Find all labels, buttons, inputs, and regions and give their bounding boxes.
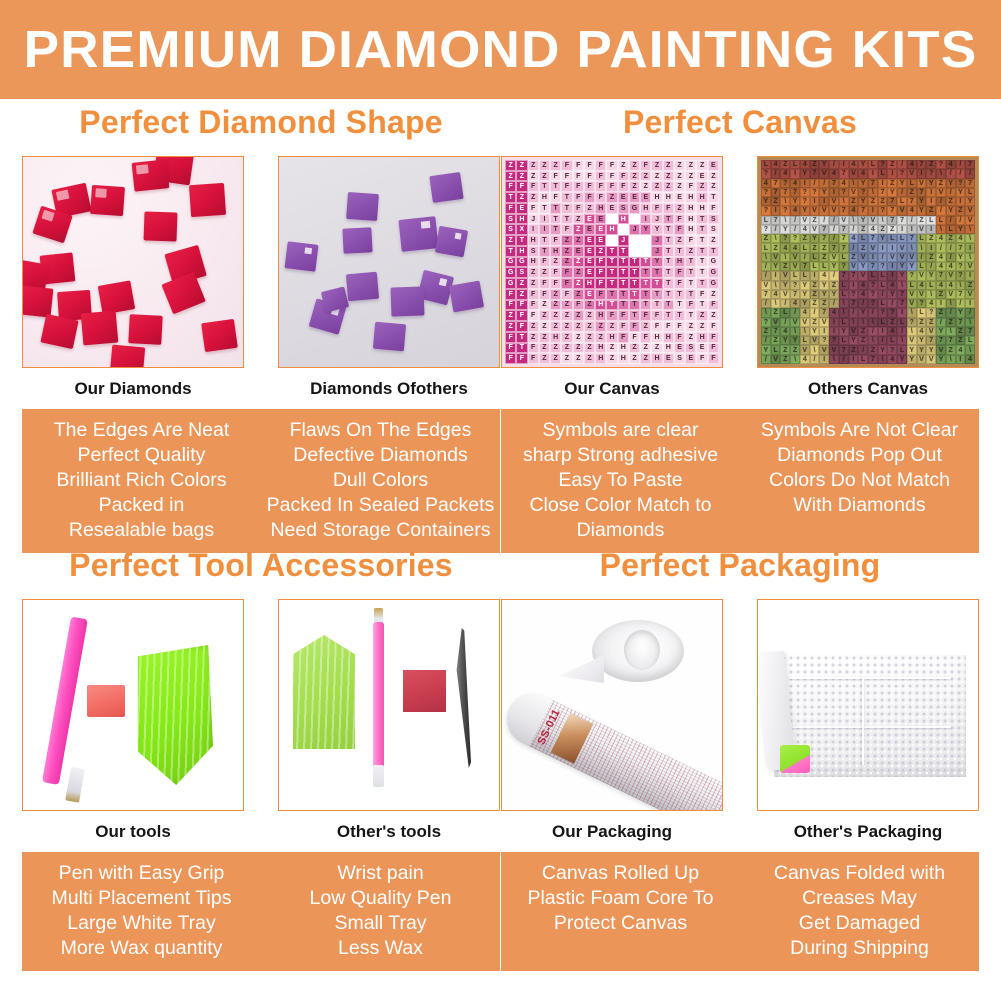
canvas-symbol-cell: F <box>539 289 550 300</box>
canvas-symbol-cell: T <box>696 267 707 278</box>
canvas-symbol-cell: G <box>505 267 516 278</box>
canvas-symbol-cell: Z <box>917 318 927 327</box>
canvas-symbol-cell: 7 <box>790 290 800 299</box>
canvas-symbol-cell: F <box>584 171 595 182</box>
canvas-symbol-cell: I <box>897 308 907 317</box>
red-square-diamonds-photo <box>23 157 243 367</box>
canvas-symbol-cell: T <box>629 278 640 289</box>
canvas-symbol-cell: / <box>858 299 868 308</box>
canvas-symbol-cell: / <box>965 169 975 178</box>
canvas-symbol-cell: / <box>790 216 800 225</box>
canvas-symbol-cell: E <box>606 203 617 214</box>
canvas-symbol-cell: Y <box>629 214 640 225</box>
canvas-symbol-cell: T <box>640 267 651 278</box>
canvas-symbol-cell: / <box>946 308 956 317</box>
canvas-symbol-cell: L <box>800 243 810 252</box>
canvas-symbol-cell: Z <box>887 160 897 169</box>
canvas-symbol-cell: I <box>829 318 839 327</box>
canvas-symbol-cell: H <box>674 257 685 268</box>
canvas-symbol-cell: L <box>839 336 849 345</box>
canvas-symbol-cell: ? <box>790 281 800 290</box>
canvas-symbol-cell: Z <box>868 345 878 354</box>
photo-frame-other-tools <box>278 599 500 811</box>
canvas-symbol-cell: H <box>640 203 651 214</box>
photo-cell-other-packaging: Other's Packaging <box>757 599 979 844</box>
canvas-symbol-cell: Z <box>573 267 584 278</box>
canvas-symbol-cell: Z <box>810 160 820 169</box>
canvas-symbol-cell: F <box>516 321 527 332</box>
canvas-symbol-cell: E <box>584 257 595 268</box>
canvas-symbol-cell: / <box>829 225 839 234</box>
canvas-symbol-cell: E <box>584 214 595 225</box>
canvas-symbol-cell: T <box>606 246 617 257</box>
canvas-symbol-cell: 4 <box>887 355 897 364</box>
canvas-symbol-cell: F <box>708 300 719 311</box>
canvas-symbol-cell: Z <box>595 246 606 257</box>
photo-cell-our-tools: Our tools <box>22 599 244 844</box>
canvas-symbol-cell: 7 <box>800 262 810 271</box>
canvas-symbol-cell: ? <box>790 234 800 243</box>
canvas-symbol-cell: F <box>640 332 651 343</box>
canvas-symbol-cell: J <box>640 235 651 246</box>
canvas-symbol-cell: L <box>790 160 800 169</box>
canvas-symbol-cell: V <box>858 271 868 280</box>
canvas-symbol-cell: E <box>595 214 606 225</box>
canvas-symbol-cell: / <box>936 206 946 215</box>
canvas-symbol-cell: E <box>640 192 651 203</box>
canvas-symbol-cell: ? <box>878 308 888 317</box>
canvas-symbol-cell: F <box>640 310 651 321</box>
canvas-symbol-cell: Z <box>573 343 584 354</box>
canvas-symbol-cell: \ <box>868 318 878 327</box>
canvas-symbol-cell: H <box>685 214 696 225</box>
canvas-symbol-cell: Y <box>790 336 800 345</box>
pen-tip-icon <box>65 767 85 803</box>
canvas-symbol-cell: 7 <box>819 225 829 234</box>
canvas-symbol-cell: 4 <box>790 243 800 252</box>
canvas-symbol-cell: 7 <box>839 206 849 215</box>
canvas-symbol-cell: \ <box>897 336 907 345</box>
canvas-symbol-cell: T <box>674 300 685 311</box>
canvas-symbol-cell: F <box>573 192 584 203</box>
canvas-symbol-cell: 7 <box>839 243 849 252</box>
canvas-symbol-cell: F <box>595 257 606 268</box>
blurb-other-tools: Wrist pain Low Quality Pen Small Tray Le… <box>261 852 500 971</box>
canvas-symbol-cell: F <box>595 289 606 300</box>
canvas-symbol-cell: T <box>561 192 572 203</box>
canvas-symbol-cell: E <box>685 353 696 364</box>
canvas-symbol-cell: F <box>674 214 685 225</box>
canvas-symbol-cell: Y <box>800 169 810 178</box>
canvas-symbol-cell: 4 <box>849 234 859 243</box>
canvas-symbol-cell: Z <box>584 332 595 343</box>
canvas-symbol-cell: V <box>917 355 927 364</box>
canvas-symbol-cell: V <box>897 243 907 252</box>
canvas-symbol-cell: ? <box>780 206 790 215</box>
canvas-symbol-cell: T <box>674 310 685 321</box>
canvas-symbol-cell: F <box>606 160 617 171</box>
blurb-line: Protect Canvas <box>505 911 736 936</box>
canvas-symbol-cell: Z <box>761 327 771 336</box>
canvas-symbol-cell: F <box>606 181 617 192</box>
blurb-line: Diamonds <box>505 518 736 543</box>
canvas-symbol-cell: Z <box>640 171 651 182</box>
canvas-symbol-cell: H <box>663 192 674 203</box>
canvas-symbol-cell: 7 <box>868 262 878 271</box>
canvas-symbol-cell: F <box>539 257 550 268</box>
canvas-symbol-cell: / <box>946 243 956 252</box>
canvas-symbol-cell: \ <box>926 290 936 299</box>
canvas-symbol-cell: V <box>800 318 810 327</box>
canvas-symbol-cell: T <box>685 310 696 321</box>
header-banner: PREMIUM DIAMOND PAINTING KITS <box>0 0 1001 99</box>
canvas-symbol-cell: / <box>897 188 907 197</box>
canvas-symbol-cell: / <box>771 225 781 234</box>
canvas-symbol-cell: I <box>926 197 936 206</box>
canvas-symbol-cell: 7 <box>839 225 849 234</box>
canvas-symbol-cell: \ <box>917 243 927 252</box>
canvas-symbol-cell: Z <box>946 234 956 243</box>
canvas-symbol-cell: I <box>629 246 640 257</box>
canvas-symbol-cell: F <box>674 278 685 289</box>
canvas-symbol-cell: F <box>516 300 527 311</box>
canvas-symbol-cell: Z <box>539 343 550 354</box>
canvas-symbol-cell: T <box>618 278 629 289</box>
canvas-symbol-cell: 4 <box>936 262 946 271</box>
canvas-symbol-cell: F <box>674 224 685 235</box>
canvas-symbol-cell: V <box>761 281 771 290</box>
canvas-symbol-cell: Y <box>907 262 917 271</box>
canvas-symbol-cell: T <box>505 192 516 203</box>
canvas-symbol-cell: Z <box>878 225 888 234</box>
canvas-symbol-cell: 4 <box>771 290 781 299</box>
canvas-symbol-cell: Z <box>674 203 685 214</box>
canvas-symbol-cell: ? <box>810 188 820 197</box>
canvas-symbol-cell: 7 <box>771 216 781 225</box>
canvas-symbol-cell: H <box>618 343 629 354</box>
photo-frame-our-diamonds <box>22 156 244 368</box>
canvas-symbol-cell: \ <box>771 299 781 308</box>
canvas-symbol-cell: 4 <box>829 169 839 178</box>
canvas-symbol-cell: F <box>595 278 606 289</box>
canvas-symbol-cell: Z <box>780 262 790 271</box>
canvas-symbol-cell: Z <box>771 308 781 317</box>
canvas-symbol-cell: \ <box>946 299 956 308</box>
canvas-symbol-cell: F <box>629 332 640 343</box>
muddy-symbol-canvas-photo: L4ZL4ZY/I4YL?Z/47Z?4/7?/4IY7V47V4ILI?VI?… <box>758 157 978 367</box>
section-title-diamond-shape: Perfect Diamond Shape <box>22 106 500 146</box>
blurb-line: Creases May <box>744 886 975 911</box>
section-tool-accessories: Perfect Tool Accessories Our tools <box>22 549 500 971</box>
canvas-symbol-cell: / <box>780 318 790 327</box>
canvas-symbol-cell: Z <box>946 197 956 206</box>
canvas-symbol-cell: F <box>573 300 584 311</box>
contents-peeking-out <box>780 745 810 773</box>
canvas-symbol-cell: L <box>965 336 975 345</box>
canvas-symbol-cell: L <box>878 299 888 308</box>
canvas-symbol-cell: E <box>595 224 606 235</box>
canvas-symbol-cell: / <box>810 308 820 317</box>
canvas-symbol-cell: Z <box>887 318 897 327</box>
canvas-symbol-cell: V <box>907 169 917 178</box>
canvas-symbol-cell: 4 <box>858 169 868 178</box>
canvas-symbol-cell: Y <box>790 197 800 206</box>
canvas-symbol-cell: T <box>561 203 572 214</box>
section-canvas: Perfect Canvas ZZZZZFFFFFZZFZZZZZEZZZZFF… <box>501 106 979 553</box>
canvas-symbol-cell: Z <box>685 332 696 343</box>
blurb-line: Plastic Foam Core To <box>505 886 736 911</box>
canvas-symbol-cell: Z <box>965 281 975 290</box>
canvas-symbol-cell: T <box>674 246 685 257</box>
photo-cell-our-canvas: ZZZZZFFFFFZZFZZZZZEZZZZFFFFFFFZZZZZZEZFF… <box>501 156 723 401</box>
canvas-symbol-cell: L <box>800 336 810 345</box>
canvas-symbol-cell: Z <box>708 310 719 321</box>
canvas-symbol-cell: V <box>780 290 790 299</box>
canvas-symbol-cell: 7 <box>965 160 975 169</box>
canvas-symbol-cell: I <box>800 179 810 188</box>
canvas-symbol-cell: Y <box>640 224 651 235</box>
canvas-symbol-cell: T <box>618 246 629 257</box>
blurb-line: Symbols Are Not Clear <box>744 418 975 443</box>
canvas-symbol-cell: Y <box>907 345 917 354</box>
canvas-symbol-cell: Z <box>878 197 888 206</box>
canvas-symbol-cell: Z <box>528 321 539 332</box>
canvas-symbol-cell: V <box>810 225 820 234</box>
blurb-other-packaging: Canvas Folded with Creases May Get Damag… <box>740 852 979 971</box>
canvas-symbol-cell: 4 <box>936 281 946 290</box>
canvas-symbol-cell: / <box>956 216 966 225</box>
section-packaging: Perfect Packaging SS-011 <box>501 549 979 971</box>
canvas-symbol-cell: L <box>780 308 790 317</box>
canvas-symbol-cell: T <box>651 278 662 289</box>
canvas-symbol-cell: Y <box>878 234 888 243</box>
canvas-symbol-cell: T <box>640 278 651 289</box>
canvas-symbol-cell: H <box>539 192 550 203</box>
canvas-symbol-cell: I <box>829 188 839 197</box>
canvas-symbol-cell: \ <box>878 355 888 364</box>
canvas-symbol-cell: F <box>516 310 527 321</box>
canvas-symbol-cell: V <box>839 216 849 225</box>
canvas-symbol-cell: / <box>819 216 829 225</box>
canvas-symbol-cell: I <box>887 169 897 178</box>
canvas-symbol-cell: L <box>761 160 771 169</box>
photo-frame-our-packaging: SS-011 <box>501 599 723 811</box>
canvas-symbol-cell: F <box>505 181 516 192</box>
canvas-symbol-cell: I <box>771 271 781 280</box>
canvas-symbol-cell: \ <box>965 225 975 234</box>
canvas-symbol-cell: Z <box>528 332 539 343</box>
canvas-symbol-cell: I <box>965 299 975 308</box>
canvas-symbol-cell: Z <box>584 353 595 364</box>
canvas-symbol-cell: H <box>528 235 539 246</box>
canvas-symbol-cell: I <box>936 299 946 308</box>
canvas-symbol-cell: Y <box>819 281 829 290</box>
canvas-symbol-cell: 7 <box>858 206 868 215</box>
canvas-symbol-cell: Y <box>819 160 829 169</box>
canvas-symbol-cell: ? <box>761 206 771 215</box>
canvas-symbol-cell: Z <box>651 171 662 182</box>
canvas-symbol-cell: \ <box>936 169 946 178</box>
canvas-symbol-cell: 4 <box>946 281 956 290</box>
canvas-symbol-cell: \ <box>839 299 849 308</box>
canvas-symbol-cell: ? <box>761 318 771 327</box>
photo-frame-other-diamonds <box>278 156 500 368</box>
canvas-symbol-cell: Y <box>956 225 966 234</box>
canvas-symbol-cell: L <box>936 216 946 225</box>
canvas-symbol-cell: G <box>708 278 719 289</box>
tray-grooves <box>133 645 213 785</box>
canvas-symbol-cell: 7 <box>907 234 917 243</box>
canvas-symbol-cell: \ <box>761 253 771 262</box>
canvas-symbol-cell: Z <box>561 353 572 364</box>
canvas-symbol-cell: F <box>651 203 662 214</box>
canvas-symbol-cell: Y <box>956 308 966 317</box>
canvas-symbol-cell: V <box>926 355 936 364</box>
canvas-symbol-cell: T <box>663 300 674 311</box>
canvas-symbol-cell: T <box>663 224 674 235</box>
canvas-symbol-cell: F <box>708 321 719 332</box>
canvas-symbol-cell: 7 <box>956 290 966 299</box>
canvas-symbol-cell: Z <box>573 235 584 246</box>
canvas-symbol-cell: S <box>505 224 516 235</box>
caption-our-packaging: Our Packaging <box>501 822 723 844</box>
canvas-symbol-cell: I <box>528 224 539 235</box>
canvas-symbol-cell: E <box>584 267 595 278</box>
canvas-symbol-cell: V <box>917 179 927 188</box>
canvas-symbol-cell: Z <box>539 353 550 364</box>
canvas-symbol-cell: \ <box>790 355 800 364</box>
canvas-symbol-cell: V <box>868 216 878 225</box>
canvas-symbol-cell: 4 <box>790 206 800 215</box>
canvas-symbol-cell: \ <box>849 179 859 188</box>
canvas-symbol-cell: L <box>868 160 878 169</box>
canvas-symbol-cell: 4 <box>800 160 810 169</box>
canvas-symbol-cell: / <box>761 299 771 308</box>
caption-our-tools: Our tools <box>22 822 244 844</box>
photo-frame-our-tools <box>22 599 244 811</box>
canvas-symbol-cell: 4 <box>926 299 936 308</box>
canvas-symbol-cell: Z <box>917 216 927 225</box>
canvas-symbol-cell: H <box>663 343 674 354</box>
canvas-symbol-cell: Z <box>708 235 719 246</box>
canvas-symbol-cell: H <box>516 214 527 225</box>
blurb-line: Diamonds Pop Out <box>744 443 975 468</box>
photo-cell-others-canvas: L4ZL4ZY/I4YL?Z/47Z?4/7?/4IY7V47V4ILI?VI?… <box>757 156 979 401</box>
canvas-symbol-cell: Z <box>573 321 584 332</box>
canvas-symbol-cell: ? <box>761 188 771 197</box>
canvas-symbol-cell: \ <box>907 308 917 317</box>
wax-square-icon <box>87 685 125 717</box>
canvas-symbol-cell: Z <box>810 290 820 299</box>
foam-core-beak <box>558 655 604 683</box>
canvas-symbol-cell: V <box>819 318 829 327</box>
canvas-symbol-cell: Z <box>685 246 696 257</box>
canvas-symbol-cell: Y <box>849 336 859 345</box>
canvas-symbol-cell: 4 <box>858 290 868 299</box>
canvas-symbol-cell: \ <box>965 234 975 243</box>
canvas-symbol-cell: Z <box>674 160 685 171</box>
canvas-symbol-cell: 4 <box>780 169 790 178</box>
canvas-symbol-cell: 7 <box>839 271 849 280</box>
canvas-symbol-cell: Z <box>663 171 674 182</box>
canvas-symbol-cell: F <box>618 332 629 343</box>
canvas-symbol-cell: Z <box>708 289 719 300</box>
canvas-symbol-cell: H <box>696 192 707 203</box>
canvas-symbol-cell: H <box>550 246 561 257</box>
canvas-symbol-cell: \ <box>839 308 849 317</box>
canvas-symbol-cell: Y <box>858 160 868 169</box>
canvas-symbol-cell: T <box>663 310 674 321</box>
canvas-symbol-cell: / <box>849 243 859 252</box>
canvas-symbol-cell: \ <box>780 253 790 262</box>
canvas-symbol-cell: E <box>674 192 685 203</box>
canvas-symbol-cell: L <box>878 318 888 327</box>
canvas-symbol-cell: Z <box>584 310 595 321</box>
canvas-symbol-cell: Z <box>849 197 859 206</box>
canvas-symbol-cell: J <box>629 224 640 235</box>
canvas-symbol-cell: Z <box>926 253 936 262</box>
canvas-symbol-cell: T <box>550 224 561 235</box>
blurb-line: Large White Tray <box>26 911 257 936</box>
blurb-line: Less Wax <box>265 936 496 961</box>
canvas-symbol-cell: V <box>946 271 956 280</box>
canvas-symbol-cell: Z <box>640 181 651 192</box>
canvas-symbol-cell: L <box>887 336 897 345</box>
canvas-symbol-cell: 7 <box>780 188 790 197</box>
canvas-symbol-cell: Z <box>651 181 662 192</box>
canvas-symbol-cell: Z <box>674 235 685 246</box>
canvas-symbol-cell: Z <box>926 318 936 327</box>
canvas-symbol-cell: G <box>505 278 516 289</box>
canvas-symbol-cell: Z <box>858 243 868 252</box>
canvas-symbol-cell: F <box>539 278 550 289</box>
canvas-symbol-cell: / <box>858 345 868 354</box>
canvas-symbol-cell: Z <box>819 243 829 252</box>
canvas-symbol-cell: F <box>528 181 539 192</box>
canvas-symbol-cell: Y <box>651 224 662 235</box>
canvas-symbol-cell: Y <box>897 271 907 280</box>
canvas-symbol-cell: ? <box>761 225 771 234</box>
canvas-symbol-cell: T <box>651 289 662 300</box>
canvas-symbol-cell: / <box>829 271 839 280</box>
canvas-symbol-cell: Z <box>926 160 936 169</box>
canvas-symbol-cell: Z <box>516 278 527 289</box>
canvas-symbol-cell: 7 <box>965 179 975 188</box>
canvas-symbol-cell: H <box>685 224 696 235</box>
canvas-symbol-cell: E <box>618 192 629 203</box>
canvas-symbol-cell: H <box>606 332 617 343</box>
canvas-symbol-cell: 7 <box>819 234 829 243</box>
canvas-symbol-cell: F <box>595 192 606 203</box>
canvas-symbol-cell: 7 <box>839 169 849 178</box>
canvas-symbol-cell: Y <box>819 188 829 197</box>
blurb-line: Dull Colors <box>265 468 496 493</box>
canvas-symbol-cell: ? <box>761 169 771 178</box>
blurb-line: Easy To Paste <box>505 468 736 493</box>
canvas-symbol-cell: 4 <box>839 179 849 188</box>
canvas-symbol-cell: Y <box>926 179 936 188</box>
photo-pair-tools: Our tools Other's tools <box>22 599 500 844</box>
canvas-symbol-cell: Z <box>561 310 572 321</box>
canvas-symbol-cell: Z <box>780 160 790 169</box>
canvas-symbol-cell: T <box>685 267 696 278</box>
canvas-symbol-cell: ? <box>926 169 936 178</box>
canvas-symbol-cell: Z <box>800 234 810 243</box>
caption-our-canvas: Our Canvas <box>501 379 723 401</box>
canvas-symbol-cell: V <box>800 216 810 225</box>
canvas-symbol-cell: E <box>516 203 527 214</box>
canvas-symbol-cell: I <box>956 355 966 364</box>
